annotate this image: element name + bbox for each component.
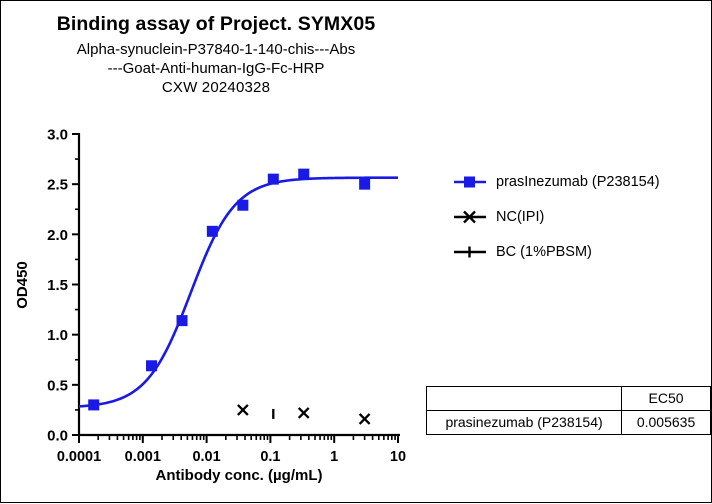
data-point-square bbox=[146, 360, 157, 371]
chart-figure: Binding assay of Project. SYMX05 Alpha-s… bbox=[0, 0, 712, 503]
x-axis-title: Antibody conc. (µg/mL) bbox=[156, 467, 323, 484]
plot-area: 0.00.51.01.52.02.53.0 0.00010.0010.010.1… bbox=[1, 1, 431, 504]
data-point-square bbox=[88, 399, 99, 410]
svg-text:0.1: 0.1 bbox=[260, 449, 280, 465]
data-point-square bbox=[298, 169, 309, 180]
x-tick-labels: 0.00010.0010.010.1110 bbox=[57, 449, 406, 465]
table-cell-sample-name: prasinezumab (P238154) bbox=[427, 411, 622, 435]
legend-marker-plus-icon bbox=[453, 244, 487, 260]
legend-item-nc-ipi[interactable]: NC(IPI) bbox=[453, 202, 703, 232]
data-point-x bbox=[360, 414, 370, 424]
svg-text:1.5: 1.5 bbox=[47, 277, 68, 294]
data-points-group bbox=[88, 169, 370, 424]
legend-marker-x-icon bbox=[453, 209, 487, 225]
svg-text:2.0: 2.0 bbox=[47, 227, 68, 244]
table-corner-cell bbox=[427, 387, 622, 411]
data-point-x bbox=[299, 408, 309, 418]
y-tick-labels: 0.00.51.01.52.02.53.0 bbox=[47, 127, 68, 445]
axis-ticks bbox=[72, 134, 398, 443]
legend-item-bc-pbsm[interactable]: BC (1%PBSM) bbox=[453, 237, 703, 267]
ec50-table: EC50 prasinezumab (P238154) 0.005635 bbox=[426, 386, 711, 435]
data-point-square bbox=[268, 174, 279, 185]
svg-text:3.0: 3.0 bbox=[47, 127, 68, 144]
svg-text:1: 1 bbox=[330, 449, 338, 465]
legend-label-prasinezumab: prasInezumab (P238154) bbox=[496, 174, 660, 190]
y-axis-title: OD450 bbox=[14, 261, 31, 309]
svg-text:0.001: 0.001 bbox=[125, 449, 161, 465]
legend-marker-square-icon bbox=[453, 174, 487, 190]
svg-text:1.0: 1.0 bbox=[47, 327, 68, 344]
data-point-x bbox=[238, 405, 248, 415]
data-point-square bbox=[177, 315, 188, 326]
table-cell-ec50-value: 0.005635 bbox=[622, 411, 711, 435]
svg-text:0.01: 0.01 bbox=[192, 449, 220, 465]
svg-text:0.0001: 0.0001 bbox=[57, 449, 101, 465]
svg-text:10: 10 bbox=[390, 449, 406, 465]
fit-curve-group bbox=[79, 178, 398, 407]
plot-svg: 0.00.51.01.52.02.53.0 0.00010.0010.010.1… bbox=[1, 1, 431, 504]
legend-label-bc-pbsm: BC (1%PBSM) bbox=[496, 244, 592, 260]
legend-label-nc-ipi: NC(IPI) bbox=[496, 209, 544, 225]
data-point-square bbox=[359, 179, 370, 190]
table-row: prasinezumab (P238154) 0.005635 bbox=[427, 411, 711, 435]
svg-text:0.0: 0.0 bbox=[47, 428, 68, 445]
legend-item-prasinezumab[interactable]: prasInezumab (P238154) bbox=[453, 167, 703, 197]
table-header-row: EC50 bbox=[427, 387, 711, 411]
svg-text:0.5: 0.5 bbox=[47, 377, 68, 394]
data-point-square bbox=[207, 226, 218, 237]
table-header-ec50: EC50 bbox=[622, 387, 711, 411]
data-point-square bbox=[237, 200, 248, 211]
svg-text:2.5: 2.5 bbox=[47, 177, 68, 194]
chart-legend: prasInezumab (P238154) NC(IPI) BC (1%PBS… bbox=[453, 167, 703, 272]
